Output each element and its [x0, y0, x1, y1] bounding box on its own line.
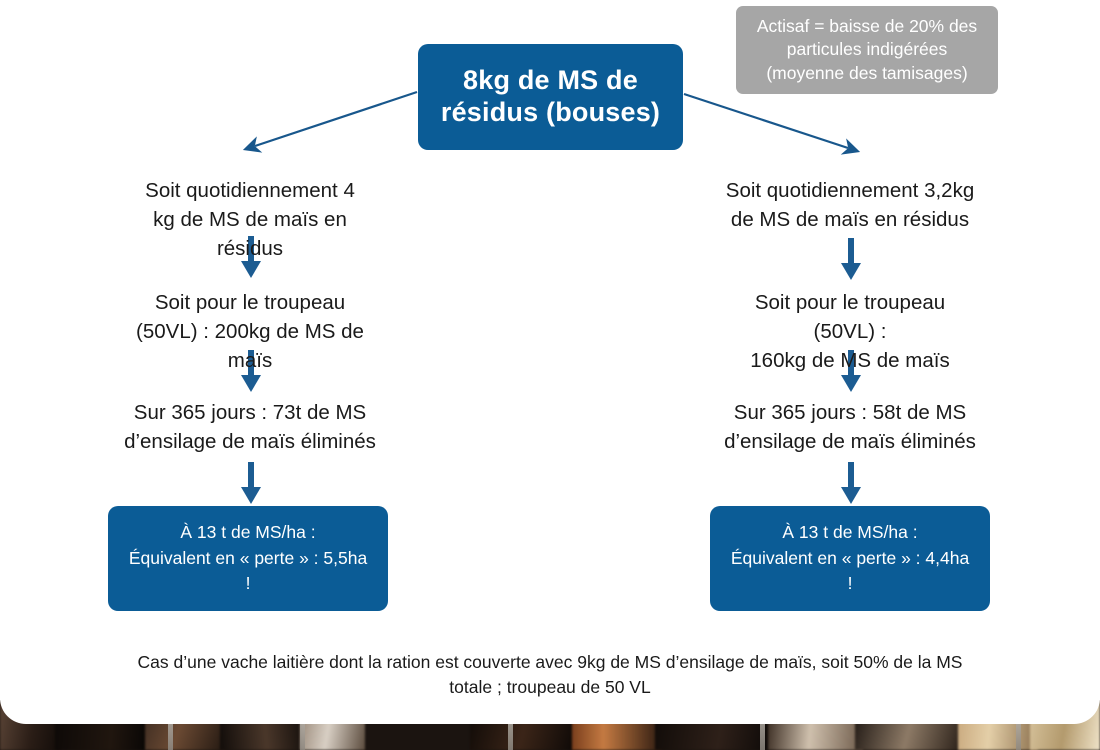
caption-line1: Cas d’une vache laitière dont la ration …: [90, 650, 1010, 675]
right-step-1-line2: de MS de maïs en résidus: [700, 205, 1000, 234]
left-result-box: À 13 t de MS/ha : Équivalent en « perte …: [108, 506, 388, 611]
right-step-1: Soit quotidiennement 3,2kg de MS de maïs…: [700, 176, 1000, 234]
left-step-2-line3: maïs: [100, 346, 400, 375]
left-step-2-line1: Soit pour le troupeau: [100, 288, 400, 317]
right-step-2-line1: Soit pour le troupeau: [700, 288, 1000, 317]
left-step-3-line1: Sur 365 jours : 73t de MS: [100, 398, 400, 427]
left-step-2: Soit pour le troupeau (50VL) : 200kg de …: [100, 288, 400, 375]
title-box-line2: résidus (bouses): [441, 97, 660, 129]
note-box-line2: particules indigérées: [757, 38, 977, 61]
left-result-line3: !: [129, 571, 367, 596]
diagram-canvas: 8kg de MS de résidus (bouses) Actisaf = …: [0, 0, 1100, 750]
right-result-line1: À 13 t de MS/ha :: [731, 520, 969, 545]
arrow-top-to-left: [255, 92, 417, 146]
right-step-2: Soit pour le troupeau (50VL) : 160kg de …: [700, 288, 1000, 375]
left-step-3-line2: d’ensilage de maïs éliminés: [100, 427, 400, 456]
left-step-2-line2: (50VL) : 200kg de MS de: [100, 317, 400, 346]
right-step-1-line1: Soit quotidiennement 3,2kg: [700, 176, 1000, 205]
caption: Cas d’une vache laitière dont la ration …: [90, 650, 1010, 701]
title-box-line1: 8kg de MS de: [441, 65, 660, 97]
right-step-3-line1: Sur 365 jours : 58t de MS: [700, 398, 1000, 427]
left-step-1-line3: résidus: [100, 234, 400, 263]
note-box-line3: (moyenne des tamisages): [757, 62, 977, 85]
arrow-top-to-right: [684, 94, 848, 148]
arrow-right-step1-to-step2: [838, 238, 864, 282]
arrow-right-step3-to-result: [838, 462, 864, 506]
left-step-3: Sur 365 jours : 73t de MS d’ensilage de …: [100, 398, 400, 456]
right-step-3-line2: d’ensilage de maïs éliminés: [700, 427, 1000, 456]
right-result-line3: !: [731, 571, 969, 596]
arrow-left-step3-to-result: [238, 462, 264, 506]
right-step-2-line3: 160kg de MS de maïs: [700, 346, 1000, 375]
right-step-2-line2: (50VL) :: [700, 317, 1000, 346]
title-box: 8kg de MS de résidus (bouses): [418, 44, 683, 150]
right-result-box: À 13 t de MS/ha : Équivalent en « perte …: [710, 506, 990, 611]
left-step-1: Soit quotidiennement 4 kg de MS de maïs …: [100, 176, 400, 263]
left-step-1-line1: Soit quotidiennement 4: [100, 176, 400, 205]
right-result-line2: Équivalent en « perte » : 4,4ha: [731, 546, 969, 571]
note-box-line1: Actisaf = baisse de 20% des: [757, 15, 977, 38]
left-result-line2: Équivalent en « perte » : 5,5ha: [129, 546, 367, 571]
left-result-line1: À 13 t de MS/ha :: [129, 520, 367, 545]
content-panel: 8kg de MS de résidus (bouses) Actisaf = …: [0, 0, 1100, 724]
left-step-1-line2: kg de MS de maïs en: [100, 205, 400, 234]
right-step-3: Sur 365 jours : 58t de MS d’ensilage de …: [700, 398, 1000, 456]
caption-line2: totale ; troupeau de 50 VL: [90, 675, 1010, 700]
note-box: Actisaf = baisse de 20% des particules i…: [736, 6, 998, 94]
